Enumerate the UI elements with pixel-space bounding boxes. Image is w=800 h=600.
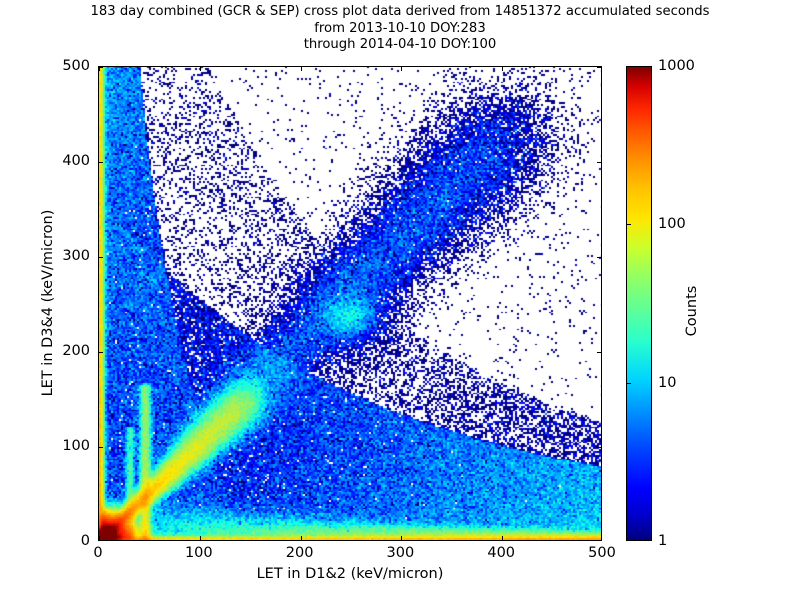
y-tick-label: 500 — [0, 58, 90, 74]
chart-title-line-1: 183 day combined (GCR & SEP) cross plot … — [0, 4, 800, 21]
x-tick-top — [301, 67, 302, 71]
scatter-density-canvas — [99, 67, 602, 541]
y-tick-left — [99, 67, 103, 68]
y-tick-label: 0 — [0, 533, 90, 549]
y-tick-label: 400 — [0, 153, 90, 169]
x-tick-top — [200, 67, 201, 71]
y-tick-label: 100 — [0, 438, 90, 454]
x-tick-label: 400 — [487, 545, 515, 561]
colorbar-tick — [626, 540, 631, 541]
x-axis-label: LET in D1&2 (keV/micron) — [98, 566, 602, 582]
x-tick-label: 0 — [93, 545, 102, 561]
colorbar-tick — [626, 383, 631, 384]
chart-title: 183 day combined (GCR & SEP) cross plot … — [0, 4, 800, 54]
y-axis-label: LET in D3&4 (keV/micron) — [40, 193, 56, 413]
colorbar: 1101001000 — [626, 66, 652, 541]
x-tick-top — [401, 67, 402, 71]
x-tick-bottom — [200, 536, 201, 540]
colorbar-tick-label: 10 — [658, 375, 676, 391]
x-tick-bottom — [99, 536, 100, 540]
figure-canvas: 183 day combined (GCR & SEP) cross plot … — [0, 0, 800, 600]
colorbar-tick — [626, 224, 631, 225]
x-tick-label: 300 — [387, 545, 415, 561]
y-tick-left — [99, 257, 103, 258]
chart-title-line-3: through 2014-04-10 DOY:100 — [0, 37, 800, 54]
colorbar-tick-label: 1 — [658, 533, 667, 549]
x-tick-bottom — [301, 536, 302, 540]
y-tick-left — [99, 352, 103, 353]
plot-area — [98, 66, 602, 541]
x-tick-bottom — [401, 536, 402, 540]
colorbar-tick — [626, 66, 631, 67]
y-tick-left — [99, 162, 103, 163]
y-tick-right — [597, 447, 601, 448]
x-tick-label: 100 — [185, 545, 213, 561]
colorbar-label: Counts — [684, 251, 700, 371]
x-tick-label: 200 — [286, 545, 314, 561]
chart-title-line-2: from 2013-10-10 DOY:283 — [0, 21, 800, 38]
y-tick-left — [99, 447, 103, 448]
y-tick-right — [597, 67, 601, 68]
y-tick-right — [597, 162, 601, 163]
x-tick-top — [502, 67, 503, 71]
y-tick-right — [597, 352, 601, 353]
y-tick-right — [597, 257, 601, 258]
x-tick-bottom — [502, 536, 503, 540]
colorbar-tick-label: 1000 — [658, 58, 695, 74]
x-tick-label: 500 — [588, 545, 616, 561]
colorbar-tick-label: 100 — [658, 216, 686, 232]
colorbar-gradient — [626, 66, 652, 541]
